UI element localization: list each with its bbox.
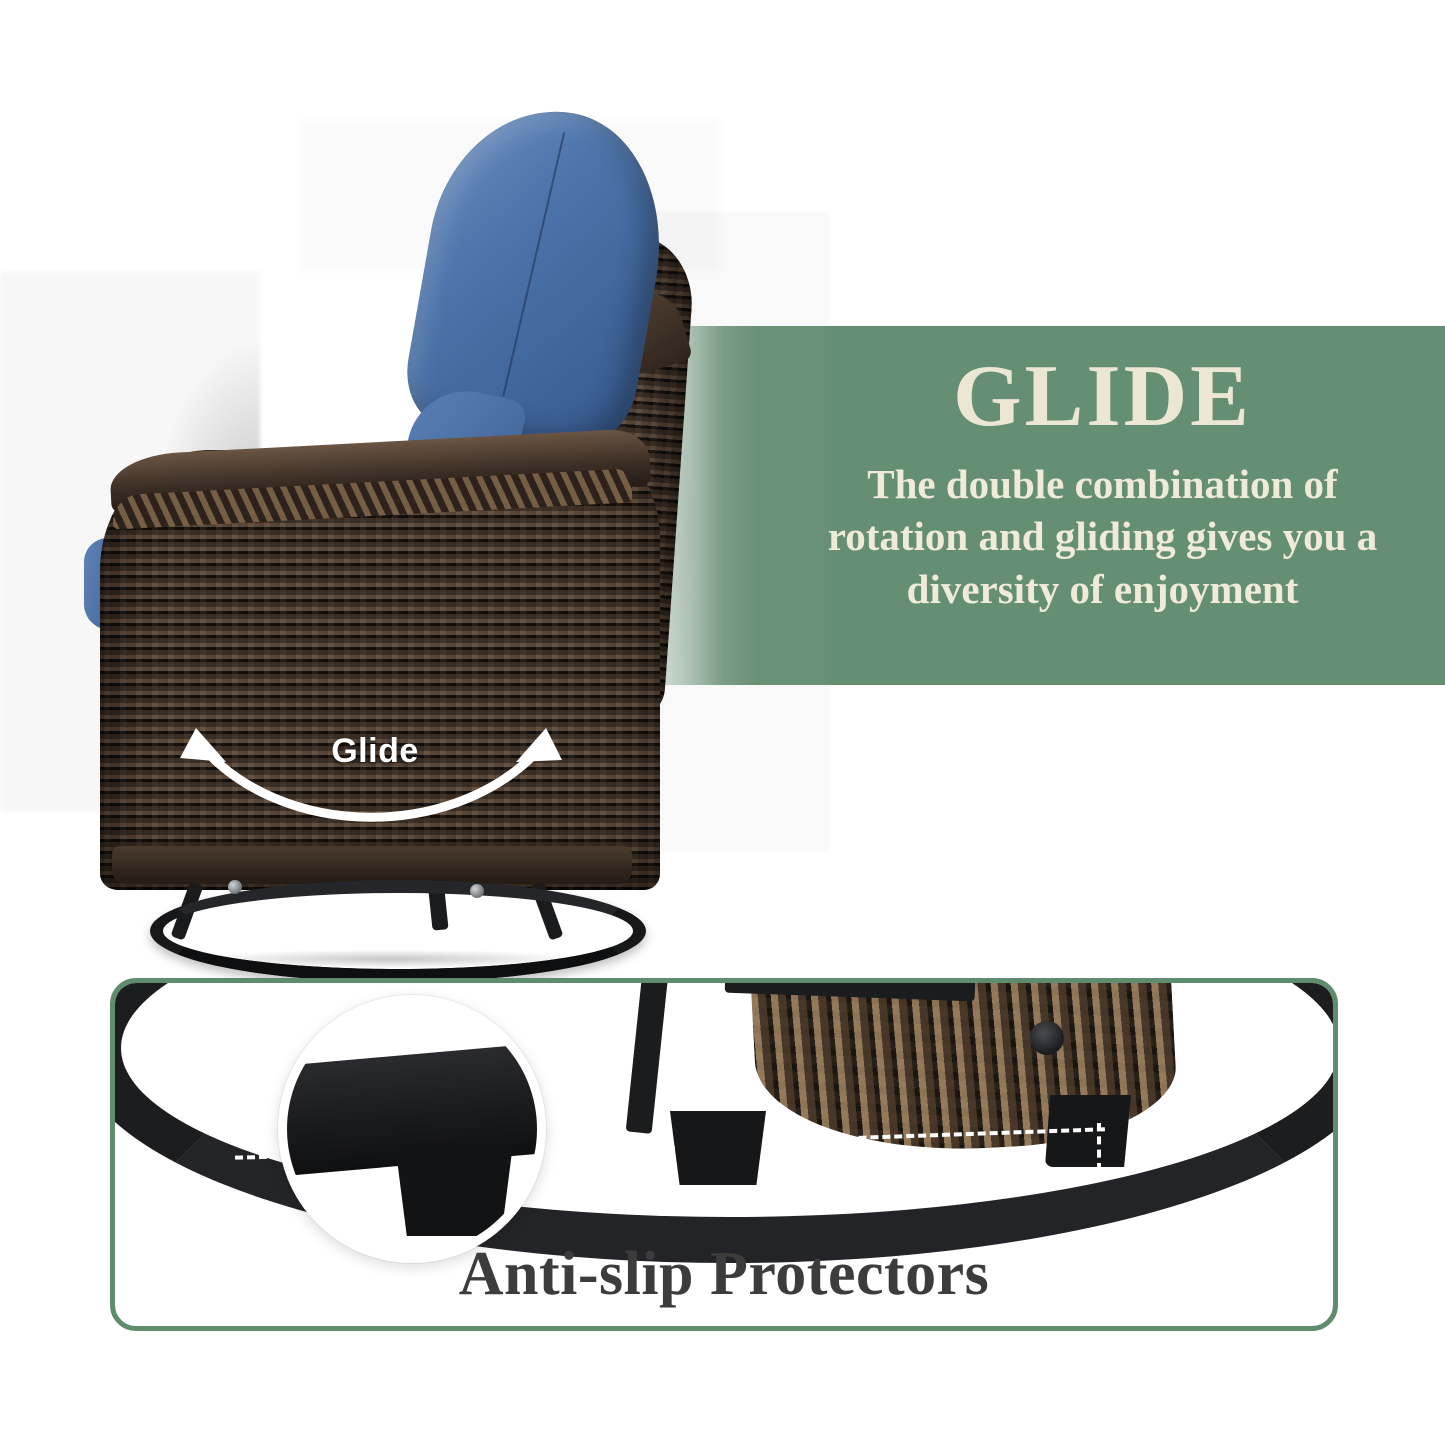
banner-description: The double combination of rotation and g… xyxy=(793,458,1413,615)
magnified-anti-slip-foot xyxy=(395,1144,513,1236)
callout-tick-right xyxy=(1097,1123,1101,1171)
banner-headline: GLIDE xyxy=(953,352,1252,442)
feature-card-image: Anti-slip Protectors xyxy=(115,983,1333,1326)
glide-motion-annotation: Glide xyxy=(160,710,580,850)
feature-card-caption: Anti-slip Protectors xyxy=(115,1239,1333,1310)
glide-arrow-label: Glide xyxy=(300,732,450,771)
magnifier-circle-icon xyxy=(278,995,546,1263)
floor-shadow xyxy=(120,946,660,972)
anti-slip-feature-card: Anti-slip Protectors xyxy=(110,978,1338,1331)
swivel-glider-chair-image: Glide xyxy=(0,90,760,900)
anti-slip-foot-center xyxy=(670,1111,766,1185)
base-screw-right xyxy=(470,884,484,898)
base-screw-left xyxy=(228,880,242,894)
product-infographic: GLIDE The double combination of rotation… xyxy=(0,0,1445,1445)
banner-text-block: GLIDE The double combination of rotation… xyxy=(760,326,1445,685)
glide-feature-section: GLIDE The double combination of rotation… xyxy=(0,0,1445,930)
chair-bottom-rail xyxy=(112,846,632,884)
double-headed-curved-arrow-icon xyxy=(160,710,580,850)
